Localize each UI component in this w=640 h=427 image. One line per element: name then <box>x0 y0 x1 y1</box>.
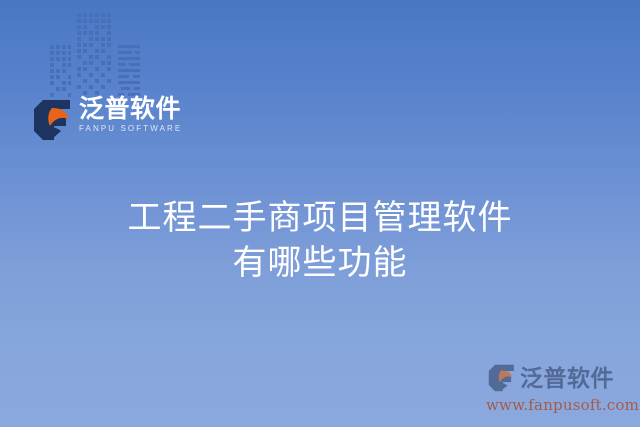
fanpu-logo-mark-icon <box>30 97 76 143</box>
promo-banner: 泛普软件 FANPU SOFTWARE 工程二手商项目管理软件 有哪些功能 泛普… <box>0 0 640 427</box>
watermark-logo-row: 泛普软件 <box>486 361 632 395</box>
watermark-url: www.fanpusoft.com <box>486 396 632 414</box>
headline-line-1: 工程二手商项目管理软件 <box>0 196 640 241</box>
watermark-name-cn: 泛普软件 <box>520 366 614 391</box>
headline: 工程二手商项目管理软件 有哪些功能 <box>0 196 640 286</box>
fanpu-logo-mark-watermark-icon <box>486 362 518 394</box>
headline-line-2: 有哪些功能 <box>0 241 640 286</box>
brand-name-en: FANPU SOFTWARE <box>79 124 182 134</box>
brand-logo: 泛普软件 FANPU SOFTWARE <box>30 96 180 150</box>
brand-text: 泛普软件 FANPU SOFTWARE <box>79 96 182 134</box>
brand-name-cn: 泛普软件 <box>79 96 181 123</box>
watermark: 泛普软件 www.fanpusoft.com <box>486 361 632 419</box>
